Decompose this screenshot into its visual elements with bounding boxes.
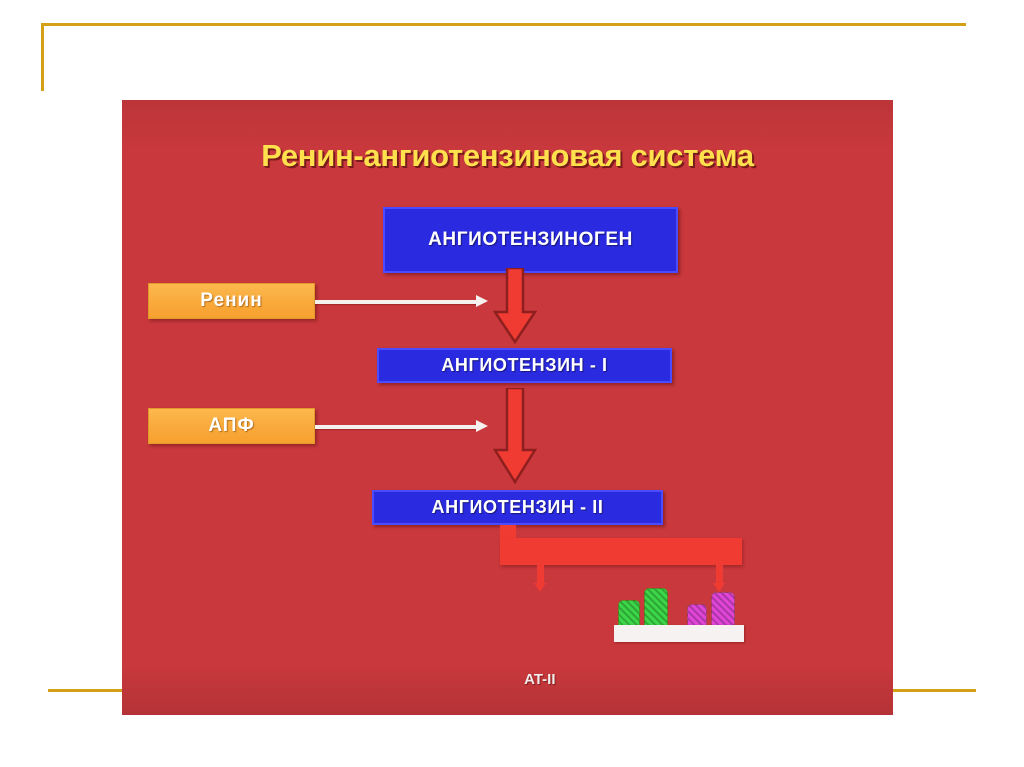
slide-title: Ренин-ангиотензиновая система (122, 138, 893, 174)
frame-rule-bottom-right (893, 689, 976, 692)
slide-panel: Ренин-ангиотензиновая система АНГИОТЕНЗИ… (122, 100, 893, 715)
frame-rule-left (41, 23, 44, 91)
conversion-arrow-2 (493, 388, 537, 484)
receptor-caption: AT-II рецепторы:1 типа2 типа (508, 648, 741, 715)
receptor-arrow-type1 (534, 565, 547, 592)
arrow-shaft (716, 565, 723, 583)
node-renin: Ренин (148, 283, 315, 319)
enzyme-arrow-ace (315, 423, 490, 430)
node-renin-label: Ренин (200, 290, 262, 312)
node-ace: АПФ (148, 408, 315, 444)
arrow-head-icon (713, 583, 725, 592)
arrow-shaft (315, 425, 478, 429)
receptor-arrow-type2 (713, 565, 726, 592)
node-angiotensinogen: АНГИОТЕНЗИНОГЕН (383, 207, 678, 273)
arrow-shaft (315, 300, 478, 304)
receptor-caption-line1: AT-II (524, 671, 555, 688)
node-angiotensin-1: АНГИОТЕНЗИН - I (377, 348, 672, 383)
manifold-bar (500, 538, 742, 565)
conversion-arrow-1 (493, 268, 537, 344)
enzyme-arrow-renin (315, 298, 490, 305)
arrow-head-icon (534, 583, 546, 592)
node-angiotensin-1-label: АНГИОТЕНЗИН - I (441, 355, 607, 376)
frame-rule-top (41, 23, 966, 26)
node-angiotensin-2: АНГИОТЕНЗИН - II (372, 490, 663, 525)
node-ace-label: АПФ (208, 415, 254, 437)
node-angiotensinogen-label: АНГИОТЕНЗИНОГЕН (428, 229, 633, 251)
arrow-head-icon (476, 295, 488, 307)
arrow-head-icon (476, 420, 488, 432)
cell-membrane (614, 625, 744, 642)
arrow-shaft (537, 565, 544, 583)
node-angiotensin-2-label: АНГИОТЕНЗИН - II (432, 497, 604, 518)
